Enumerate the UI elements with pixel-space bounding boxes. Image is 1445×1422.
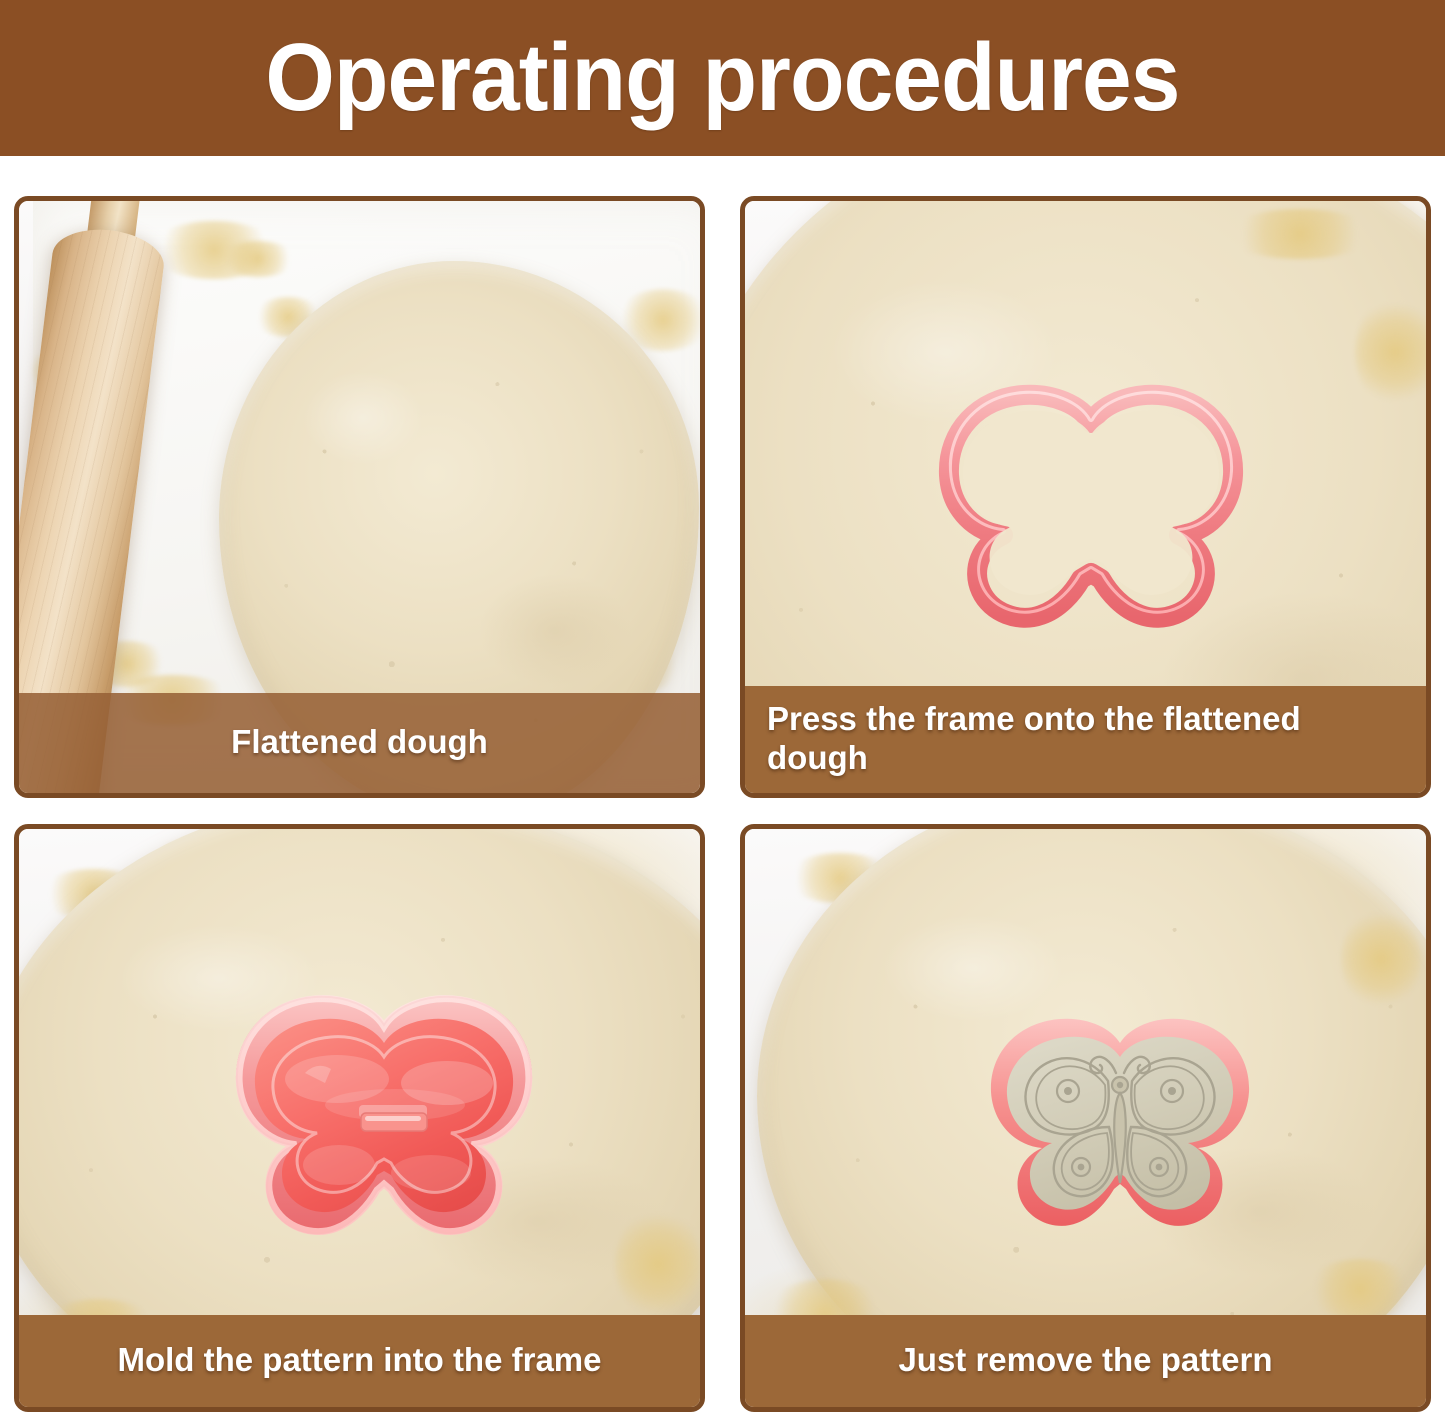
step-2-caption-bar: Press the frame onto the flattened dough xyxy=(745,686,1426,793)
step-3-caption-bar: Mold the pattern into the frame xyxy=(19,1315,700,1407)
step-2-caption-text: Press the frame onto the flattened dough xyxy=(767,700,1404,778)
infographic-page: Operating procedures xyxy=(0,0,1445,1422)
step-4-caption-text: Just remove the pattern xyxy=(898,1341,1272,1380)
step-panel-3: Mold the pattern into the frame xyxy=(14,824,705,1412)
step-panel-1: Flattened dough xyxy=(14,196,705,798)
flour-dust xyxy=(1225,209,1375,259)
step-panel-4: Just remove the pattern xyxy=(740,824,1431,1412)
flour-dust xyxy=(615,1209,700,1319)
flour-dust xyxy=(1305,1259,1415,1319)
flour-dust xyxy=(219,241,297,277)
step-panel-2: Press the frame onto the flattened dough xyxy=(740,196,1431,798)
flour-dust xyxy=(1341,909,1421,1009)
steps-grid: Flattened dough xyxy=(14,196,1431,1412)
header-banner: Operating procedures xyxy=(0,0,1445,156)
step-1-caption-bar: Flattened dough xyxy=(19,693,700,793)
flour-dust xyxy=(1355,297,1426,407)
step-4-caption-bar: Just remove the pattern xyxy=(745,1315,1426,1407)
butterfly-frame xyxy=(931,383,1251,633)
step-3-caption-text: Mold the pattern into the frame xyxy=(117,1341,601,1380)
page-title: Operating procedures xyxy=(265,30,1179,126)
embossed-butterfly-result xyxy=(975,1009,1265,1237)
step-1-caption-text: Flattened dough xyxy=(231,723,488,762)
butterfly-stamp-assembly xyxy=(219,987,549,1245)
